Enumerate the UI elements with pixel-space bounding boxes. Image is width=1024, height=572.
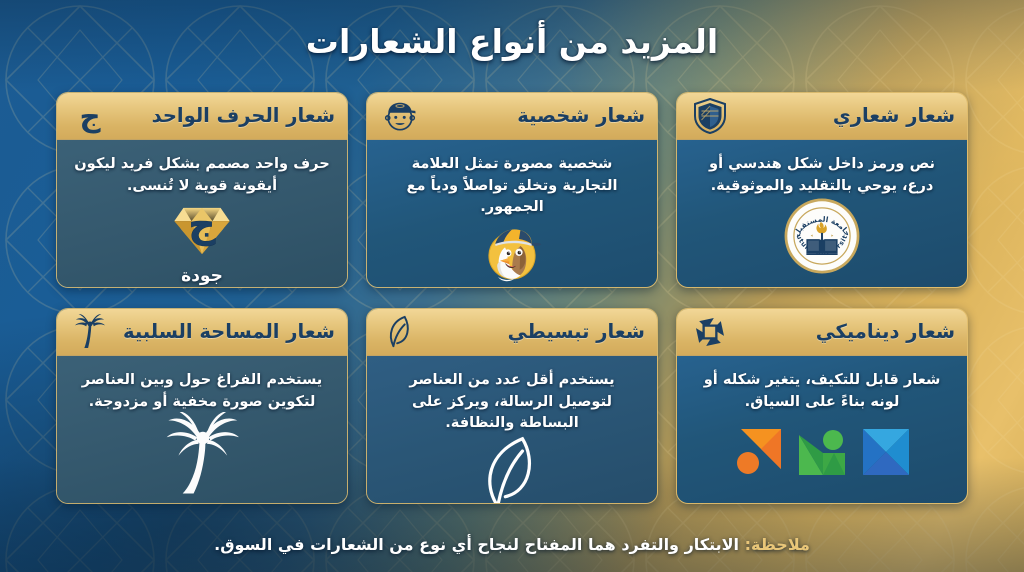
- card-description: شعار قابل للتكيف، يتغير شكله أو لونه بنا…: [694, 369, 950, 412]
- card-body: يستخدم أقل عدد من العناصر لتوصيل الرسالة…: [367, 356, 657, 504]
- gem-monogram-logo: ج جودة: [73, 196, 331, 288]
- card-body: يستخدم الفراغ حول وبين العناصر لتكوين صو…: [57, 356, 347, 504]
- logo-types-grid: شعار شعاري نص ورمز داخل شكل هندسي أو درع…: [56, 92, 968, 504]
- leaf-line-logo: [383, 434, 641, 504]
- card-body: شعار قابل للتكيف، يتغير شكله أو لونه بنا…: [677, 356, 967, 503]
- infographic-canvas: المزيد من أنواع الشعارات شعار شعاري نص و: [0, 0, 1024, 572]
- card-header: شعار المساحة السلبية: [57, 309, 347, 356]
- card-description: حرف واحد مصمم بشكل فريد ليكون أيقونة قوي…: [74, 153, 330, 196]
- leaf-outline-icon: [381, 313, 419, 351]
- palm-tree-icon: [71, 313, 109, 351]
- card-title: شعار شخصية: [517, 106, 645, 126]
- card-header: شعار شعاري: [677, 93, 967, 140]
- card-header: شعار تبسيطي: [367, 309, 657, 356]
- card-header: شعار ديناميكي: [677, 309, 967, 356]
- footer-note-label: ملاحظة:: [745, 535, 810, 554]
- footer-note: ملاحظة: الابتكار والتفرد هما المفتاح لنج…: [0, 535, 1024, 554]
- card-title: شعار ديناميكي: [816, 322, 955, 342]
- letter-jeem-icon: ج: [71, 97, 109, 135]
- svg-text:ج: ج: [79, 99, 101, 133]
- dynamic-shapes-logo: [693, 412, 951, 495]
- card-body: نص ورمز داخل شكل هندسي أو درع، يوحي بالت…: [677, 140, 967, 287]
- card-minimalist-logo[interactable]: شعار تبسيطي يستخدم أقل عدد من العناصر لت…: [366, 308, 658, 504]
- card-header: شعار الحرف الواحد ج: [57, 93, 347, 140]
- dynamic-shape-blue: [861, 427, 911, 477]
- university-seal-logo: جامعة المستقبل Future University: [693, 196, 951, 279]
- page-title: المزيد من أنواع الشعارات: [0, 22, 1024, 61]
- shield-icon: [691, 97, 729, 135]
- card-body: شخصية مصورة تمثل العلامة التجارية وتخلق …: [367, 140, 657, 288]
- card-title: شعار شعاري: [833, 106, 955, 126]
- mascot-face-icon: [381, 97, 419, 135]
- card-title: شعار المساحة السلبية: [123, 322, 335, 342]
- card-dynamic-logo[interactable]: شعار ديناميكي شعار قابل للتكيف، يتغير: [676, 308, 968, 504]
- dynamic-shape-orange: [733, 427, 783, 477]
- card-body: حرف واحد مصمم بشكل فريد ليكون أيقونة قوي…: [57, 140, 347, 288]
- card-monogram-logo[interactable]: شعار الحرف الواحد ج حرف واحد مصمم بشكل ف…: [56, 92, 348, 288]
- card-description: يستخدم الفراغ حول وبين العناصر لتكوين صو…: [74, 369, 330, 412]
- pinwheel-icon: [691, 313, 729, 351]
- logo-caption: جودة: [181, 266, 223, 286]
- card-description: نص ورمز داخل شكل هندسي أو درع، يوحي بالت…: [694, 153, 950, 196]
- card-negative-space-logo[interactable]: شعار المساحة السلبية: [56, 308, 348, 504]
- card-title: شعار تبسيطي: [508, 322, 645, 342]
- card-emblem-logo[interactable]: شعار شعاري نص ورمز داخل شكل هندسي أو درع…: [676, 92, 968, 288]
- card-mascot-logo[interactable]: شعار شخصية شخصية مصور: [366, 92, 658, 288]
- card-header: شعار شخصية: [367, 93, 657, 140]
- dynamic-shape-green: [797, 427, 847, 477]
- falcon-mascot-logo: صقر للتوصيل: [383, 218, 641, 288]
- card-title: شعار الحرف الواحد: [152, 106, 335, 126]
- palm-tree-logo: [73, 412, 331, 500]
- svg-text:ج: ج: [189, 203, 216, 246]
- card-description: شخصية مصورة تمثل العلامة التجارية وتخلق …: [384, 153, 640, 218]
- footer-note-text: الابتكار والتفرد هما المفتاح لنجاح أي نو…: [214, 535, 744, 554]
- card-description: يستخدم أقل عدد من العناصر لتوصيل الرسالة…: [384, 369, 640, 434]
